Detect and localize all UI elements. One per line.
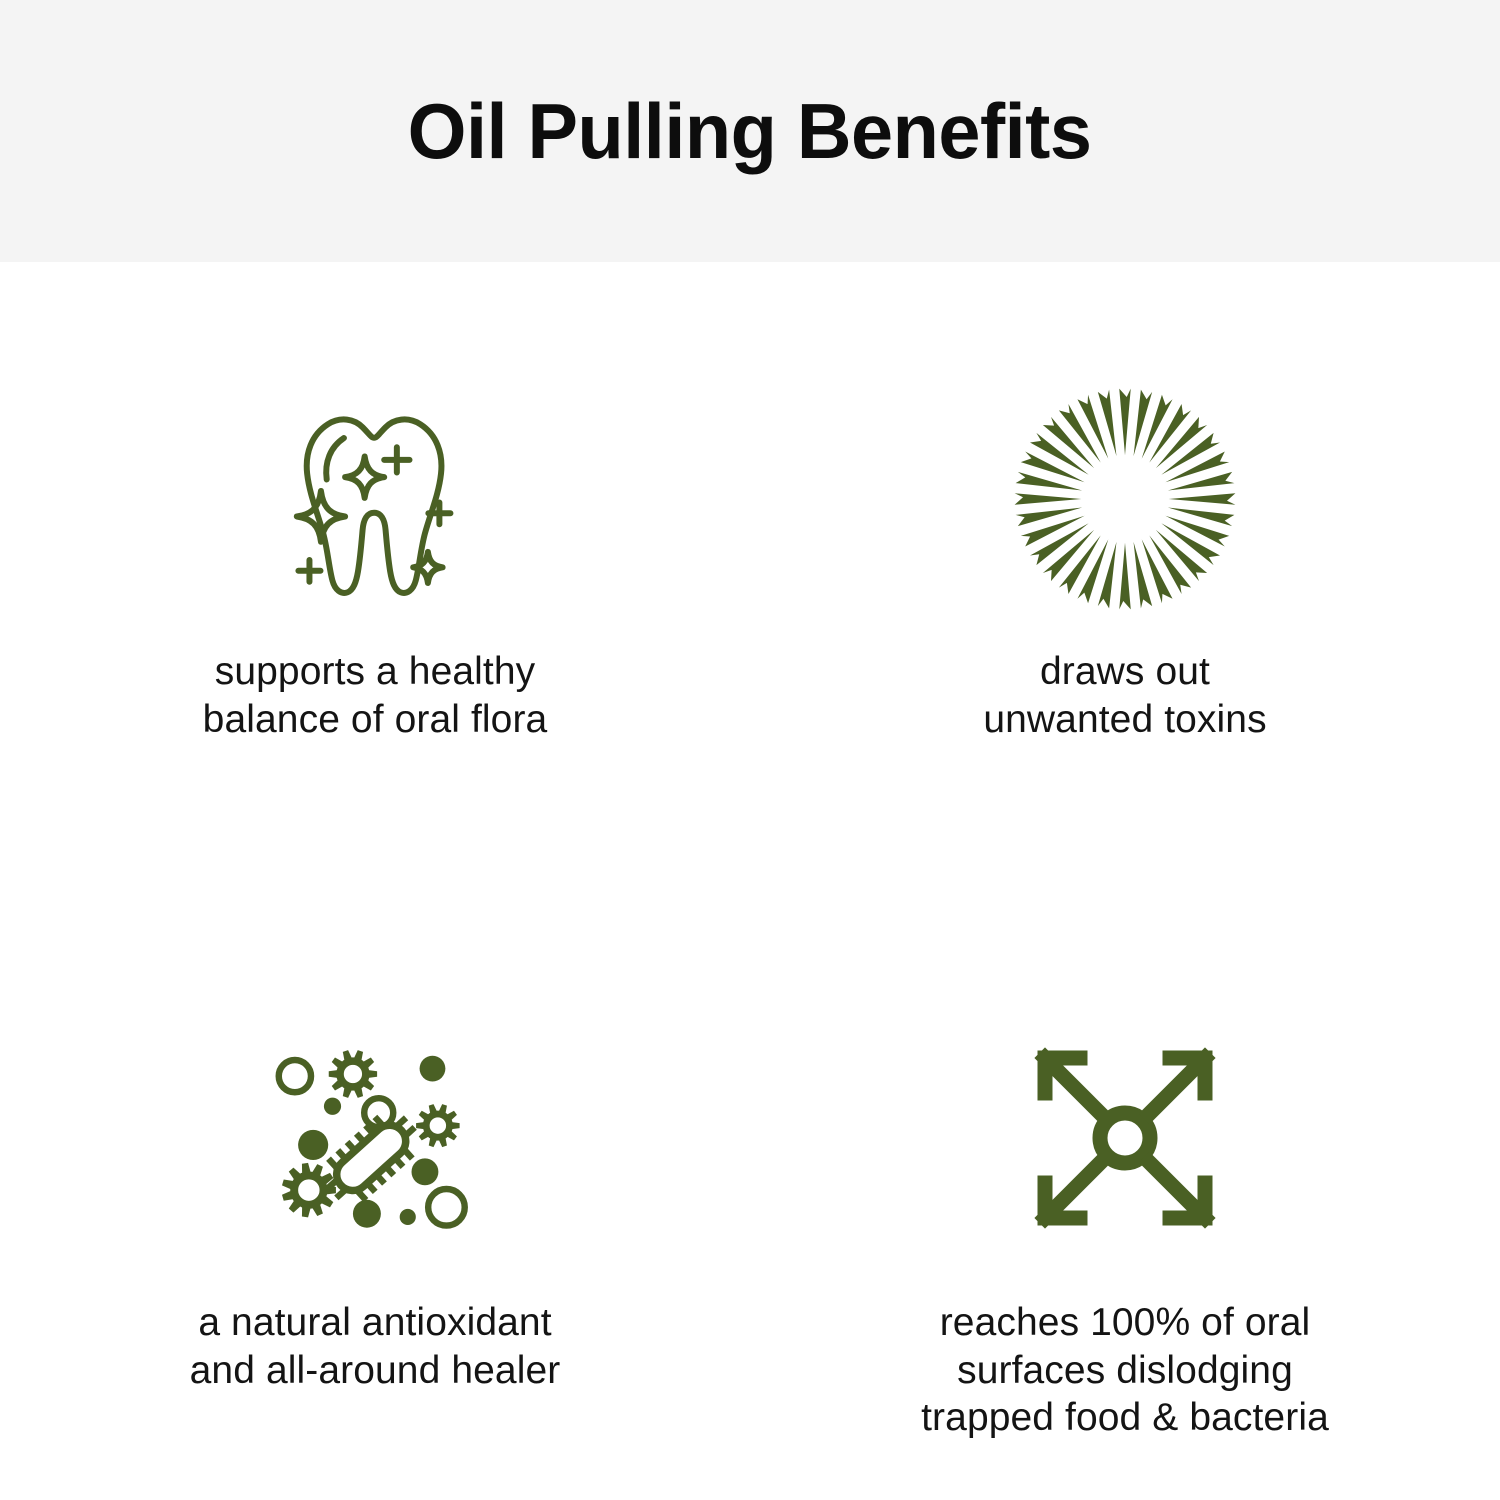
microbe-ring — [428, 1189, 465, 1226]
microbe-dot — [399, 1208, 415, 1224]
sunburst-ray — [1119, 543, 1131, 610]
virus-ring — [426, 1113, 449, 1136]
microbe-ring — [278, 1060, 310, 1092]
sunburst-ray — [1016, 508, 1083, 527]
sunburst-ray — [1169, 493, 1236, 505]
virus-shape — [281, 1162, 335, 1217]
virus-spike — [451, 1122, 459, 1129]
virus-shape — [328, 1050, 376, 1098]
sunburst-ray — [1134, 542, 1153, 609]
microbe-dot — [323, 1097, 340, 1114]
sunburst-ray — [1098, 390, 1117, 457]
page-title: Oil Pulling Benefits — [408, 92, 1092, 170]
sunburst-ray — [1015, 493, 1082, 505]
benefit-item-oral-flora: supports a healthy balance of oral flora — [0, 262, 750, 881]
arrow-down-right — [1149, 1162, 1205, 1218]
virus-ring — [294, 1175, 323, 1204]
sunburst-ray — [1016, 472, 1083, 491]
sunburst-ray — [1134, 390, 1153, 457]
benefit-caption: a natural antioxidant and all-around hea… — [190, 1299, 561, 1394]
virus-spike — [368, 1070, 377, 1078]
center-circle — [1100, 1113, 1150, 1163]
virus-shape — [416, 1104, 460, 1147]
oil-pulling-benefits-page: Oil Pulling Benefits — [0, 0, 1500, 1500]
benefit-caption: draws out unwanted toxins — [983, 648, 1266, 743]
bacteria-microbes-icon — [250, 1013, 500, 1263]
header-band: Oil Pulling Benefits — [0, 0, 1500, 262]
arrow-up-left — [1045, 1058, 1101, 1114]
benefit-item-draws-toxins: draws out unwanted toxins — [750, 262, 1500, 881]
arrow-up-right — [1149, 1058, 1205, 1114]
benefit-item-antioxidant: a natural antioxidant and all-around hea… — [0, 881, 750, 1500]
benefit-caption: supports a healthy balance of oral flora — [203, 648, 548, 743]
sunburst-ray — [1098, 542, 1117, 609]
sunburst-ray — [1119, 389, 1131, 456]
virus-spike — [328, 1070, 337, 1078]
microbe-dot — [298, 1129, 328, 1159]
virus-spike — [301, 1206, 310, 1217]
sunburst-rays-icon — [1000, 374, 1250, 624]
arrow-down-left — [1045, 1162, 1101, 1218]
sunburst-ray — [1168, 472, 1235, 491]
rod-bacterium — [313, 1101, 429, 1213]
microbe-dot — [419, 1055, 445, 1081]
microbe-dot — [352, 1199, 380, 1227]
benefit-item-reaches-surfaces: reaches 100% of oral surfaces dislodging… — [750, 881, 1500, 1500]
benefit-caption: reaches 100% of oral surfaces dislodging… — [921, 1299, 1329, 1442]
virus-spike — [416, 1122, 424, 1129]
virus-spike — [301, 1162, 310, 1173]
microbe-dot — [411, 1158, 438, 1185]
virus-ring — [340, 1061, 366, 1087]
sunburst-ray — [1168, 508, 1235, 527]
four-way-expand-arrows-icon — [1000, 1013, 1250, 1263]
tooth-sparkle-icon — [250, 374, 500, 624]
benefits-grid: supports a healthy balance of oral flora… — [0, 262, 1500, 1500]
